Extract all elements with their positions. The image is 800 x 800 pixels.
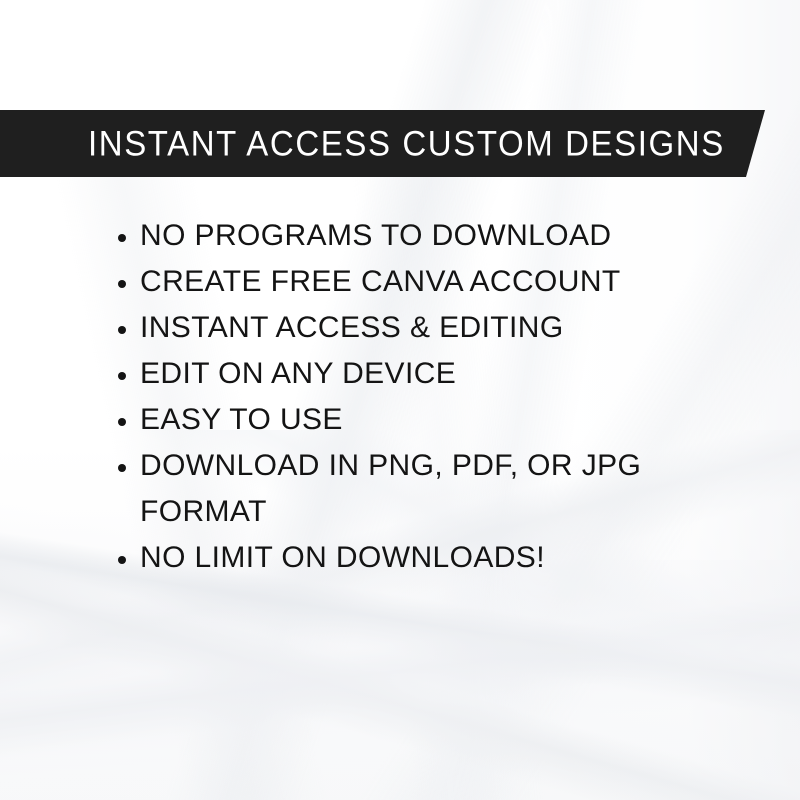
feature-item-label: EASY TO USE (140, 397, 343, 443)
feature-item: NO LIMIT ON DOWNLOADS! (0, 535, 800, 581)
feature-item: EASY TO USE (0, 397, 800, 443)
feature-item: NO PROGRAMS TO DOWNLOAD (0, 213, 800, 259)
bullet-icon (118, 326, 126, 334)
feature-item-label: NO PROGRAMS TO DOWNLOAD (140, 213, 611, 259)
bullet-icon (118, 372, 126, 380)
feature-list: NO PROGRAMS TO DOWNLOADCREATE FREE CANVA… (0, 213, 800, 581)
feature-item-label: NO LIMIT ON DOWNLOADS! (140, 535, 545, 581)
feature-item-label: EDIT ON ANY DEVICE (140, 351, 456, 397)
background-lower-sweep (0, 560, 800, 800)
feature-item: DOWNLOAD IN PNG, PDF, OR JPGFORMAT (0, 443, 800, 535)
feature-item-label-continued: FORMAT (140, 489, 800, 535)
feature-item-label: INSTANT ACCESS & EDITING (140, 305, 564, 351)
promo-graphic-canvas: INSTANT ACCESS CUSTOM DESIGNS NO PROGRAM… (0, 0, 800, 800)
header-banner: INSTANT ACCESS CUSTOM DESIGNS (0, 110, 770, 177)
bullet-icon (118, 418, 126, 426)
feature-item: EDIT ON ANY DEVICE (0, 351, 800, 397)
bullet-icon (118, 280, 126, 288)
feature-item: INSTANT ACCESS & EDITING (0, 305, 800, 351)
bullet-icon (118, 234, 126, 242)
feature-item-label: DOWNLOAD IN PNG, PDF, OR JPG (140, 443, 641, 489)
bullet-icon (118, 464, 126, 472)
banner-title: INSTANT ACCESS CUSTOM DESIGNS (88, 126, 725, 161)
feature-item: CREATE FREE CANVA ACCOUNT (0, 259, 800, 305)
bullet-icon (118, 556, 126, 564)
feature-item-label: CREATE FREE CANVA ACCOUNT (140, 259, 621, 305)
